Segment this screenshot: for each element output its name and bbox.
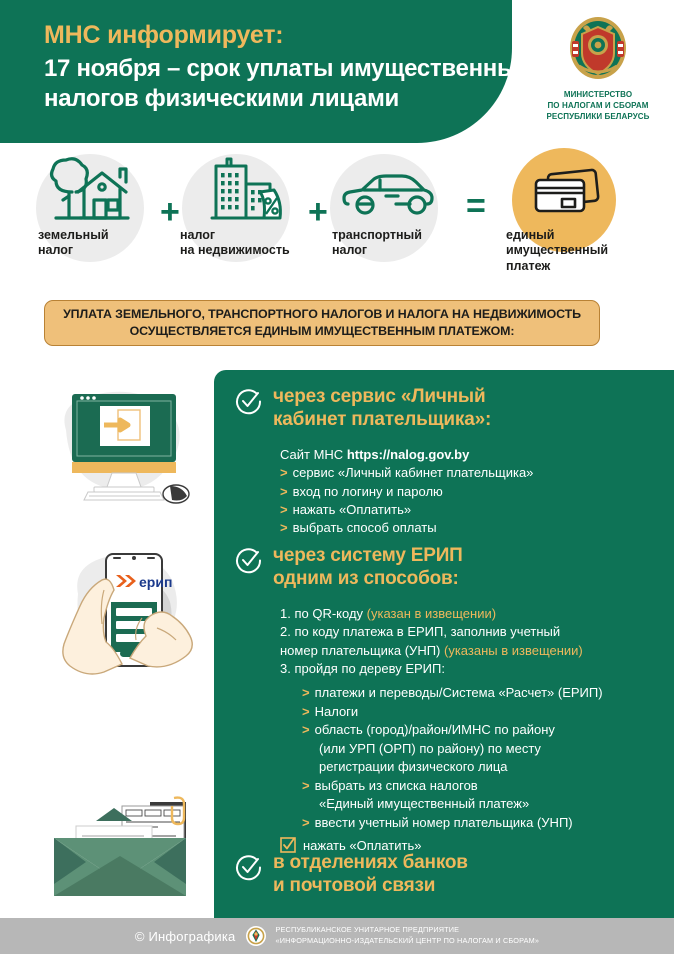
list-item-label: выбрать способ оплаты	[293, 520, 437, 535]
bullet-marker-icon: >	[302, 815, 310, 830]
formula-item-single-payment: единый имущественный платеж	[502, 158, 632, 274]
section-2-title: через систему ЕРИП одним из способов:	[273, 545, 463, 591]
bullet-marker-icon: >	[302, 704, 310, 719]
envelope-document-icon	[38, 796, 203, 913]
erip-method-2-line-2: номер плательщика (УНП) (указаны в извещ…	[280, 642, 674, 660]
section-3-header: в отделениях банков и почтовой связи	[214, 852, 674, 898]
list-item-label: область (город)/район/ИМНС по району	[315, 722, 555, 737]
single-payment-label-line-2: имущественный	[506, 243, 632, 258]
list-item: >сервис «Личный кабинет плательщика»	[280, 464, 674, 482]
list-item: >выбрать из списка налогов	[280, 777, 674, 795]
emblem-caption-line-2: ПО НАЛОГАМ И СБОРАМ	[528, 101, 668, 112]
bullet-marker-icon: >	[280, 484, 288, 499]
ric-publisher-logo-icon	[245, 925, 267, 947]
list-item: >выбрать способ оплаты	[280, 519, 674, 537]
erip-method-2-line-1: 2. по коду платежа в ЕРИП, заполнив учет…	[280, 623, 674, 641]
page-title-line-2: налогов физическими лицами	[44, 84, 494, 115]
section-1-title-line-1: через сервис «Личный	[273, 386, 491, 409]
svg-text:ерип: ерип	[139, 574, 172, 590]
emblem-caption-line-3: РЕСПУБЛИКИ БЕЛАРУСЬ	[528, 112, 668, 123]
bullet-marker-icon: >	[280, 465, 288, 480]
section-1-body: Сайт МНС https://nalog.gov.by >сервис «Л…	[214, 446, 674, 538]
section-3-title-line-2: и почтовой связи	[273, 875, 468, 898]
list-item-label: нажать «Оплатить»	[293, 502, 411, 517]
formula-operator-plus-2: +	[308, 195, 328, 229]
check-circle-icon	[235, 388, 262, 415]
footer-publisher-line-1: РЕСПУБЛИКАНСКОЕ УНИТАРНОЕ ПРЕДПРИЯТИЕ	[276, 925, 540, 936]
list-item: >ввести учетный номер плательщика (УНП)	[280, 814, 674, 832]
banner-line-1: УПЛАТА ЗЕМЕЛЬНОГО, ТРАНСПОРТНОГО НАЛОГОВ…	[63, 306, 581, 323]
section-1-title: через сервис «Личный кабинет плательщика…	[273, 386, 491, 432]
pay-action-label: нажать «Оплатить»	[303, 838, 421, 853]
desktop-computer-icon	[42, 382, 202, 517]
footer-publisher: РЕСПУБЛИКАНСКОЕ УНИТАРНОЕ ПРЕДПРИЯТИЕ «И…	[276, 925, 540, 946]
footer-publisher-line-2: «ИНФОРМАЦИОННО-ИЗДАТЕЛЬСКИЙ ЦЕНТР ПО НАЛ…	[276, 936, 540, 947]
banner-line-2: ОСУЩЕСТВЛЯЕТСЯ ЕДИНЫМ ИМУЩЕСТВЕННЫМ ПЛАТ…	[63, 323, 581, 340]
formula-item-land-tax: земельный налог	[26, 158, 154, 259]
ministry-emblem-block: МИНИСТЕРСТВО ПО НАЛОГАМ И СБОРАМ РЕСПУБЛ…	[528, 14, 668, 122]
list-item-label: выбрать из списка налогов	[315, 778, 478, 793]
page-title: 17 ноября – срок уплаты имущественных на…	[44, 54, 494, 115]
section-2-title-line-2: одним из способов:	[273, 568, 463, 591]
checkbox-checked-icon	[280, 837, 296, 853]
section-erip: через систему ЕРИП одним из способов: 1.…	[214, 545, 674, 853]
list-item-label: вход по логину и паролю	[293, 484, 443, 499]
bullet-marker-icon: >	[280, 502, 288, 517]
buildings-percent-icon	[176, 158, 304, 222]
list-item-cont: «Единый имущественный платеж»	[280, 795, 674, 813]
erip-method-1: 1. по QR-коду (указан в извещении)	[280, 605, 674, 623]
list-item-label: сервис «Личный кабинет плательщика»	[293, 465, 534, 480]
section-personal-cabinet: через сервис «Личный кабинет плательщика…	[214, 386, 674, 538]
section-2-body: 1. по QR-коду (указан в извещении) 2. по…	[214, 605, 674, 832]
bank-cards-icon	[502, 158, 632, 222]
section-3-title-line-1: в отделениях банков	[273, 852, 468, 875]
list-item: >область (город)/район/ИМНС по району	[280, 721, 674, 739]
single-payment-label-line-3: платеж	[506, 259, 632, 274]
erip-method-2-note: (указаны в извещении)	[444, 643, 583, 658]
formula-operator-equals: =	[466, 189, 486, 223]
single-payment-banner: УПЛАТА ЗЕМЕЛЬНОГО, ТРАНСПОРТНОГО НАЛОГОВ…	[44, 300, 600, 346]
erip-method-2-text: номер плательщика (УНП)	[280, 643, 444, 658]
land-tax-label-line-2: налог	[38, 243, 154, 258]
formula-label-single-payment: единый имущественный платеж	[502, 228, 632, 274]
formula-item-transport-tax: транспортный налог	[324, 158, 452, 259]
land-tax-label-line-1: земельный	[38, 228, 154, 243]
single-payment-label-line-1: единый	[506, 228, 632, 243]
formula-label-land-tax: земельный налог	[26, 228, 154, 259]
property-tax-label-line-1: налог	[180, 228, 304, 243]
check-circle-icon	[235, 547, 262, 574]
transport-tax-label-line-2: налог	[332, 243, 452, 258]
header-kicker: МНС информирует:	[44, 20, 494, 51]
property-tax-label-line-2: на недвижимость	[180, 243, 304, 258]
list-item-label: Налоги	[315, 704, 359, 719]
list-item: >вход по логину и паролю	[280, 483, 674, 501]
section-1-header: через сервис «Личный кабинет плательщика…	[214, 386, 674, 432]
bullet-marker-icon: >	[302, 778, 310, 793]
check-circle-icon	[235, 854, 262, 881]
hands-smartphone-erip-icon: ерип	[44, 532, 204, 712]
erip-method-1-note: (указан в извещении)	[367, 606, 496, 621]
site-url[interactable]: https://nalog.gov.by	[347, 447, 470, 462]
erip-method-3: 3. пройдя по дереву ЕРИП:	[280, 660, 674, 678]
car-icon	[324, 158, 452, 222]
section-1-title-line-2: кабинет плательщика»:	[273, 409, 491, 432]
section-bank-post-offices: в отделениях банков и почтовой связи	[214, 852, 674, 898]
list-item: >Налоги	[280, 703, 674, 721]
page-title-line-1: 17 ноября – срок уплаты имущественных	[44, 54, 494, 85]
formula-operator-plus-1: +	[160, 195, 180, 229]
emblem-caption-line-1: МИНИСТЕРСТВО	[528, 90, 668, 101]
house-with-tree-icon	[26, 158, 154, 222]
list-item: >нажать «Оплатить»	[280, 501, 674, 519]
list-item: >платежи и переводы/Система «Расчет» (ЕР…	[280, 684, 674, 702]
bullet-marker-icon: >	[280, 520, 288, 535]
list-item-label: ввести учетный номер плательщика (УНП)	[315, 815, 573, 830]
formula-label-transport-tax: транспортный налог	[324, 228, 452, 259]
list-item-cont: регистрации физического лица	[280, 758, 674, 776]
banner-text: УПЛАТА ЗЕМЕЛЬНОГО, ТРАНСПОРТНОГО НАЛОГОВ…	[63, 306, 581, 340]
bullet-marker-icon: >	[302, 685, 310, 700]
ministry-emblem-caption: МИНИСТЕРСТВО ПО НАЛОГАМ И СБОРАМ РЕСПУБЛ…	[528, 90, 668, 122]
formula-item-property-tax: налог на недвижимость	[176, 158, 304, 259]
section-2-header: через систему ЕРИП одним из способов:	[214, 545, 674, 591]
pay-action-row: нажать «Оплатить»	[250, 837, 674, 853]
site-line: Сайт МНС https://nalog.gov.by	[280, 446, 674, 464]
header-titles: МНС информирует: 17 ноября – срок уплаты…	[44, 20, 494, 115]
section-3-title: в отделениях банков и почтовой связи	[273, 852, 468, 898]
formula-label-property-tax: налог на недвижимость	[176, 228, 304, 259]
bullet-marker-icon: >	[302, 722, 310, 737]
belarus-tax-ministry-emblem-icon	[565, 14, 631, 86]
list-item-cont: (или УРП (ОРП) по району) по месту	[280, 740, 674, 758]
list-item-label: платежи и переводы/Система «Расчет» (ЕРИ…	[315, 685, 603, 700]
footer: © Инфографика РЕСПУБЛИКАНСКОЕ УНИТАРНОЕ …	[0, 918, 674, 954]
erip-method-1-text: 1. по QR-коду	[280, 606, 367, 621]
site-prefix: Сайт МНС	[280, 447, 347, 462]
transport-tax-label-line-1: транспортный	[332, 228, 452, 243]
header: МНС информирует: 17 ноября – срок уплаты…	[0, 0, 674, 143]
footer-copyright: © Инфографика	[135, 929, 236, 944]
section-2-title-line-1: через систему ЕРИП	[273, 545, 463, 568]
tax-formula-row: земельный налог +	[0, 148, 674, 280]
payment-methods-panel: через сервис «Личный кабинет плательщика…	[214, 370, 674, 918]
